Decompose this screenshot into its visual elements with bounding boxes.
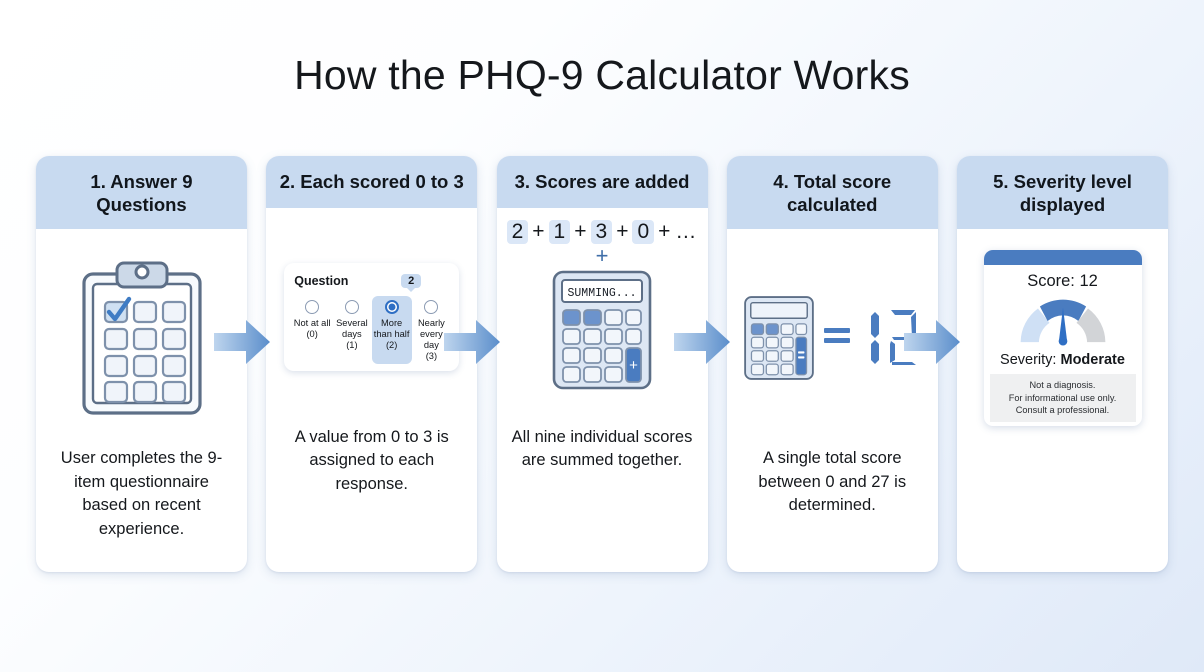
radio-value: (2) — [373, 340, 411, 350]
arrow-2-to-3 — [444, 318, 500, 366]
equals-sign — [824, 328, 850, 348]
equation-term-2: 3 — [591, 220, 613, 244]
equation-term-1: 1 — [549, 220, 571, 244]
step-1-caption: User completes the 9-item questionnaire … — [36, 441, 247, 541]
question-widget-top: Question 2 — [292, 272, 451, 290]
steps-row: 1. Answer 9 Questions — [36, 156, 1168, 572]
calculator-display: SUMMING... — [567, 287, 636, 300]
question-options: Not at all (0) Several days (1) More tha… — [292, 296, 451, 365]
step-2-visual: Question 2 Not at all (0) Several days (… — [266, 208, 477, 420]
score-text: Score: 12 — [990, 272, 1136, 291]
calculator-icon: SUMMING... — [551, 269, 653, 391]
step-2-header: 2. Each scored 0 to 3 — [266, 156, 477, 208]
radio-label: Not at all — [293, 318, 331, 329]
step-2-caption: A value from 0 to 3 is assigned to each … — [266, 420, 477, 496]
disclaimer-line-2: For informational use only. — [994, 392, 1132, 404]
arrow-1-to-2 — [214, 318, 270, 366]
severity-result-panel: Score: 12 Severity: Moderate Not a diagn… — [984, 250, 1142, 426]
step-4-caption: A single total score between 0 and 27 is… — [727, 441, 938, 517]
severity-value: Moderate — [1060, 352, 1124, 368]
step-3-header: 3. Scores are added — [497, 156, 708, 208]
radio-value: (0) — [293, 329, 331, 339]
question-widget[interactable]: Question 2 Not at all (0) Several days (… — [284, 263, 459, 372]
radio-icon-selected[interactable] — [385, 300, 399, 314]
radio-label: More than half — [373, 318, 411, 341]
question-label: Question — [294, 274, 348, 288]
step-5-caption — [957, 441, 1168, 447]
disclaimer-line-3: Consult a professional. — [994, 404, 1132, 416]
radio-option-1[interactable]: Several days (1) — [332, 296, 372, 365]
radio-icon[interactable] — [345, 300, 359, 314]
panel-accent-bar — [984, 250, 1142, 265]
radio-icon[interactable] — [305, 300, 319, 314]
radio-icon[interactable] — [424, 300, 438, 314]
severity-gauge-icon — [1014, 294, 1112, 346]
equation-operator: + — [657, 220, 671, 244]
step-3-caption: All nine individual scores are summed to… — [497, 420, 708, 473]
equation-term-0: 2 — [507, 220, 529, 244]
question-score-badge: 2 — [401, 274, 421, 288]
equation-operator: + — [615, 220, 629, 244]
arrow-3-to-4 — [674, 318, 730, 366]
step-3-visual: 2 + 1 + 3 + 0 + … + SUMMING... — [497, 208, 708, 420]
equation-ellipsis: … — [674, 220, 697, 244]
clipboard-icon — [79, 258, 205, 418]
sum-equation: 2 + 1 + 3 + 0 + … — [507, 220, 698, 244]
disclaimer-line-1: Not a diagnosis. — [994, 379, 1132, 391]
arrow-4-to-5 — [904, 318, 960, 366]
equation-operator: + — [573, 220, 587, 244]
calculator-plus-key: + — [629, 357, 638, 374]
radio-option-2[interactable]: More than half (2) — [372, 296, 412, 365]
step-1-header: 1. Answer 9 Questions — [36, 156, 247, 229]
disclaimer: Not a diagnosis. For informational use o… — [990, 374, 1136, 422]
severity-text: Severity: Moderate — [990, 352, 1136, 368]
step-card-5[interactable]: 5. Severity level displayed Score: 12 Se… — [957, 156, 1168, 572]
radio-label: Several days — [333, 318, 371, 341]
severity-prefix: Severity: — [1000, 352, 1060, 368]
equation-term-3: 0 — [632, 220, 654, 244]
step-4-header: 4. Total score calculated — [727, 156, 938, 229]
calculator-icon — [743, 293, 815, 383]
step-5-header: 5. Severity level displayed — [957, 156, 1168, 229]
step-5-visual: Score: 12 Severity: Moderate Not a diagn… — [957, 229, 1168, 441]
plus-symbol: + — [596, 245, 609, 267]
radio-value: (1) — [333, 340, 371, 350]
equation-operator: + — [531, 220, 545, 244]
page-title: How the PHQ-9 Calculator Works — [0, 0, 1204, 98]
radio-option-0[interactable]: Not at all (0) — [292, 296, 332, 365]
